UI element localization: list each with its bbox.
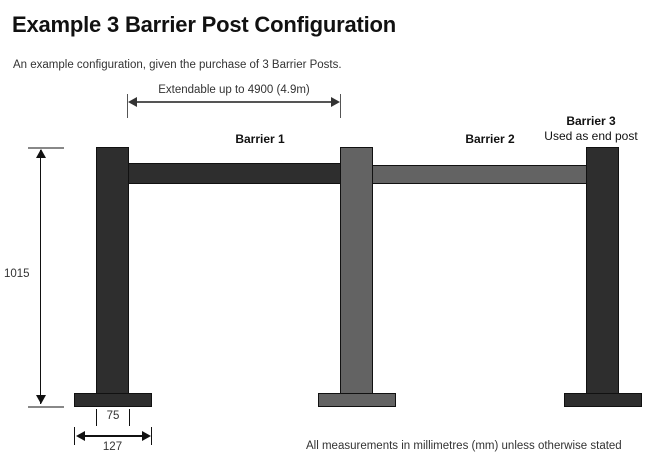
dimension-height-label: 1015 bbox=[4, 268, 50, 280]
post-3 bbox=[586, 147, 619, 399]
dimension-base-width-label: 127 bbox=[74, 441, 151, 453]
measurement-units-footnote: All measurements in millimetres (mm) unl… bbox=[306, 440, 622, 452]
post-3-baseplate bbox=[564, 393, 642, 407]
dimension-post-width-label: 75 bbox=[96, 410, 130, 422]
post-1 bbox=[96, 147, 129, 399]
dimension-base-width-arrow-left-icon bbox=[76, 431, 85, 441]
post-2-baseplate bbox=[318, 393, 396, 407]
page-subtitle: An example configuration, given the purc… bbox=[13, 59, 342, 71]
post-2 bbox=[340, 147, 373, 399]
dimension-extendable-arrow-left-icon bbox=[128, 97, 137, 107]
dimension-base-width-shaft bbox=[79, 435, 147, 437]
dimension-base-width-arrow-right-icon bbox=[142, 431, 151, 441]
post-1-baseplate bbox=[74, 393, 152, 407]
dimension-height-top-tick bbox=[28, 147, 64, 149]
barrier-3-note-label: Used as end post bbox=[536, 129, 646, 144]
dimension-extendable-right-extension bbox=[340, 94, 341, 118]
barrier-3-label-group: Barrier 3 Used as end post bbox=[536, 114, 646, 144]
dimension-extendable-label: Extendable up to 4900 (4.9m) bbox=[128, 84, 340, 96]
dimension-height-arrow-up-icon bbox=[36, 149, 46, 158]
dimension-base-width-right-extension bbox=[151, 427, 152, 445]
barrier-3-label: Barrier 3 bbox=[536, 114, 646, 129]
dimension-height-arrow-down-icon bbox=[36, 395, 46, 404]
dimension-extendable-shaft bbox=[131, 101, 336, 103]
barrier-1-label: Barrier 1 bbox=[170, 132, 350, 146]
dimension-extendable-arrow-right-icon bbox=[331, 97, 340, 107]
dimension-height-bottom-tick bbox=[28, 406, 64, 408]
belt-2 bbox=[364, 165, 594, 184]
belt-1 bbox=[120, 163, 348, 184]
diagram-page: Example 3 Barrier Post Configuration An … bbox=[0, 0, 651, 460]
page-title: Example 3 Barrier Post Configuration bbox=[12, 12, 396, 38]
